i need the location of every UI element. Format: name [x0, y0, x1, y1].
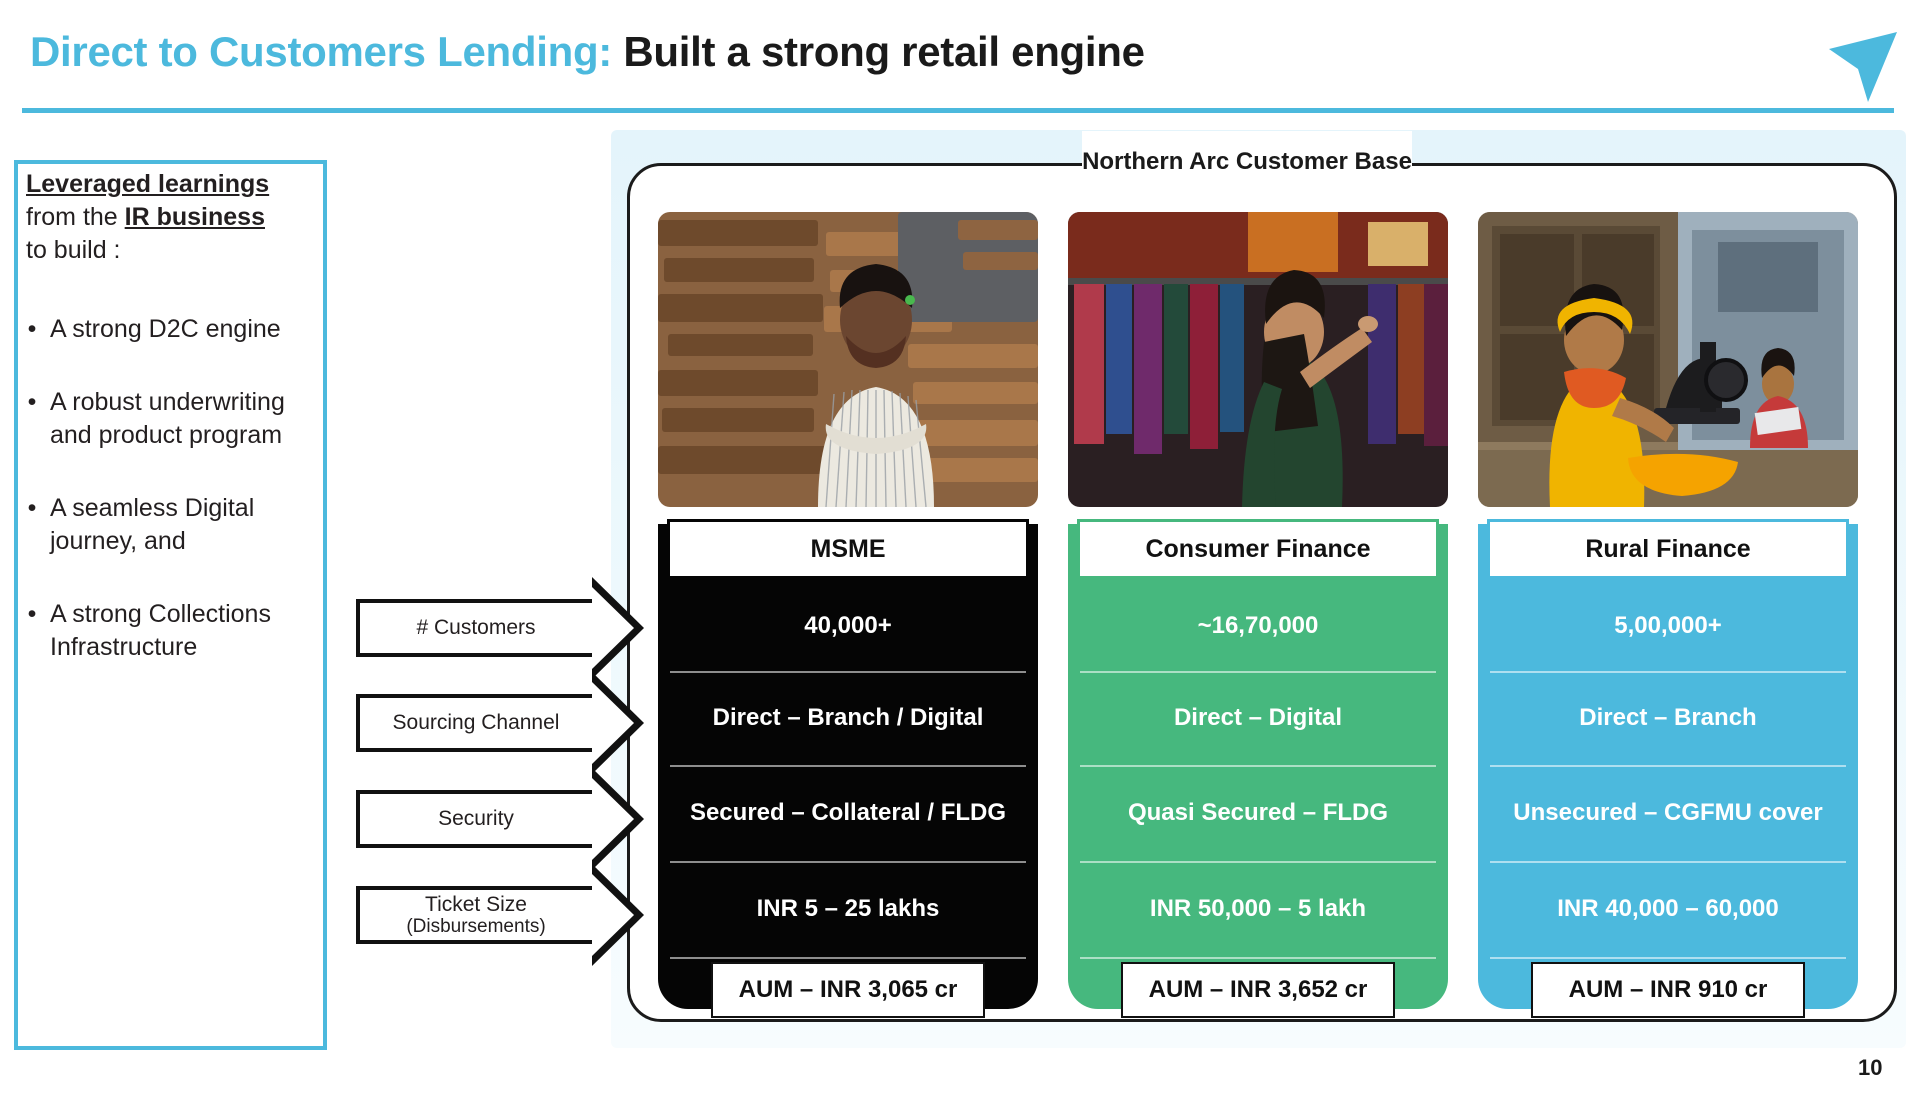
aum-badge-msme: AUM – INR 3,065 cr	[711, 962, 985, 1018]
list-item: • A strong D2C engine	[26, 313, 294, 346]
arrow-right-icon	[592, 768, 644, 870]
column-header-msme[interactable]: MSME	[667, 519, 1029, 579]
bullet-dot-icon: •	[26, 386, 38, 452]
bullet-text: A strong Collections Infrastructure	[50, 598, 294, 664]
bullet-text: A robust underwriting and product progra…	[50, 386, 294, 452]
bullet-dot-icon: •	[26, 598, 38, 664]
page-title-accent: Direct to Customers Lending:	[30, 28, 612, 75]
aum-badge-consumer-finance: AUM – INR 3,652 cr	[1121, 962, 1395, 1018]
title-divider	[22, 108, 1894, 113]
lead-prefix: from the	[26, 203, 125, 231]
cell-rural-ticket: INR 40,000 – 60,000	[1478, 862, 1858, 956]
cell-msme-customers: 40,000+	[658, 582, 1038, 670]
aum-badge-rural-finance: AUM – INR 910 cr	[1531, 962, 1805, 1018]
left-panel-content: Leveraged learnings from the IR business…	[26, 168, 294, 704]
row-label-security-body: Security	[356, 790, 596, 848]
customer-base-label: Northern Arc Customer Base	[1082, 131, 1412, 193]
cell-msme-sourcing: Direct – Branch / Digital	[658, 672, 1038, 764]
left-panel-bullets: • A strong D2C engine • A robust underwr…	[26, 313, 294, 664]
clothing-shopper-photo	[1068, 212, 1448, 507]
cell-divider	[1080, 957, 1436, 959]
cell-divider	[1490, 957, 1846, 959]
arrow-right-icon	[592, 577, 644, 679]
bullet-text: A strong D2C engine	[50, 313, 294, 346]
lead-tail: to build :	[26, 236, 121, 264]
row-label-text: Security	[438, 807, 514, 831]
left-panel-lead: Leveraged learnings from the IR business…	[26, 168, 294, 267]
cell-msme-ticket: INR 5 – 25 lakhs	[658, 862, 1038, 956]
row-label-text: Ticket Size	[425, 893, 527, 917]
slide-root: Direct to Customers Lending: Built a str…	[0, 0, 1920, 1117]
list-item: • A robust underwriting and product prog…	[26, 386, 294, 452]
cell-consumer-ticket: INR 50,000 – 5 lakh	[1068, 862, 1448, 956]
bullet-dot-icon: •	[26, 313, 38, 346]
cell-consumer-customers: ~16,70,000	[1068, 582, 1448, 670]
lead-bold-2: IR business	[125, 203, 265, 231]
lead-bold-1: Leveraged learnings	[26, 170, 269, 198]
column-header-rural-finance[interactable]: Rural Finance	[1487, 519, 1849, 579]
page-title: Direct to Customers Lending: Built a str…	[30, 28, 1145, 76]
rural-tailor-photo	[1478, 212, 1858, 507]
bullet-dot-icon: •	[26, 492, 38, 558]
arrow-right-icon	[592, 864, 644, 966]
cell-consumer-security: Quasi Secured – FLDG	[1068, 766, 1448, 860]
list-item: • A seamless Digital journey, and	[26, 492, 294, 558]
row-label-text: Sourcing Channel	[393, 711, 560, 735]
cell-consumer-sourcing: Direct – Digital	[1068, 672, 1448, 764]
list-item: • A strong Collections Infrastructure	[26, 598, 294, 664]
cell-divider	[670, 957, 1026, 959]
page-title-rest: Built a strong retail engine	[612, 28, 1145, 75]
bullet-text: A seamless Digital journey, and	[50, 492, 294, 558]
arrow-cursor-logo-icon	[1823, 22, 1903, 104]
row-label-text: # Customers	[416, 616, 535, 640]
arrow-right-icon	[592, 672, 644, 774]
row-label-ticket-body: Ticket Size (Disbursements)	[356, 886, 596, 944]
cell-rural-customers: 5,00,000+	[1478, 582, 1858, 670]
cell-rural-sourcing: Direct – Branch	[1478, 672, 1858, 764]
page-number: 10	[1858, 1055, 1882, 1081]
row-label-sourcing-body: Sourcing Channel	[356, 694, 596, 752]
cell-msme-security: Secured – Collateral / FLDG	[658, 766, 1038, 860]
row-label-subtext: (Disbursements)	[406, 916, 545, 937]
cell-rural-security: Unsecured – CGFMU cover	[1478, 766, 1858, 860]
column-header-consumer-finance[interactable]: Consumer Finance	[1077, 519, 1439, 579]
row-label-customers-body: # Customers	[356, 599, 596, 657]
timber-merchant-photo	[658, 212, 1038, 507]
